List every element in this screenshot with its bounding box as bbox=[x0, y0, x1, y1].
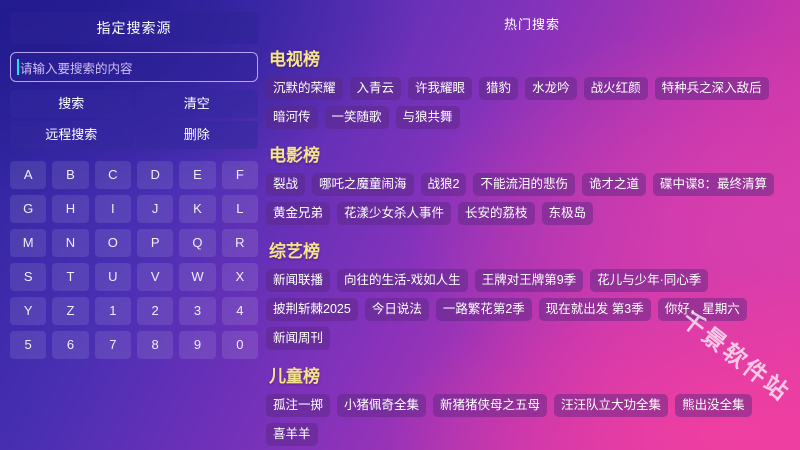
hot-search-tag[interactable]: 一笑随歌 bbox=[325, 106, 389, 129]
key-w[interactable]: W bbox=[179, 263, 215, 291]
section-heading: 综艺榜 bbox=[269, 237, 798, 262]
hot-search-tag[interactable]: 战狼2 bbox=[421, 173, 467, 196]
hot-search-tag[interactable]: 沉默的荣耀 bbox=[266, 77, 343, 100]
ranking-sections: 电视榜沉默的荣耀入青云许我耀眼猎豹水龙吟战火红颜特种兵之深入敌后暗河传一笑随歌与… bbox=[264, 45, 800, 446]
search-button[interactable]: 搜索 bbox=[10, 90, 133, 118]
key-c[interactable]: C bbox=[95, 161, 131, 189]
key-t[interactable]: T bbox=[52, 263, 88, 291]
key-q[interactable]: Q bbox=[179, 229, 215, 257]
tag-row: 孤注一掷小猪佩奇全集新猪猪侠母之五母汪汪队立大功全集熊出没全集喜羊羊 bbox=[266, 394, 798, 446]
hot-search-title: 热门搜索 bbox=[264, 0, 800, 33]
text-caret bbox=[17, 59, 19, 75]
hot-search-tag[interactable]: 长安的荔枝 bbox=[458, 202, 535, 225]
tag-row: 新闻联播向往的生活-戏如人生王牌对王牌第9季花儿与少年·同心季披荆斩棘2025今… bbox=[266, 269, 798, 350]
key-u[interactable]: U bbox=[95, 263, 131, 291]
key-6[interactable]: 6 bbox=[52, 331, 88, 359]
hot-search-tag[interactable]: 东极岛 bbox=[542, 202, 594, 225]
panel-title: 指定搜索源 bbox=[10, 12, 258, 44]
app-root: 指定搜索源 请输入要搜索的内容 搜索 清空 远程搜索 删除 ABCDEFGHIJ… bbox=[0, 0, 800, 450]
key-l[interactable]: L bbox=[222, 195, 258, 223]
hot-search-tag[interactable]: 裂战 bbox=[266, 173, 305, 196]
key-y[interactable]: Y bbox=[10, 297, 46, 325]
search-input[interactable]: 请输入要搜索的内容 bbox=[10, 52, 258, 82]
hot-search-tag[interactable]: 一路繁花第2季 bbox=[436, 298, 532, 321]
key-1[interactable]: 1 bbox=[95, 297, 131, 325]
key-0[interactable]: 0 bbox=[222, 331, 258, 359]
key-a[interactable]: A bbox=[10, 161, 46, 189]
remote-search-button[interactable]: 远程搜索 bbox=[10, 121, 133, 149]
search-input-placeholder: 请输入要搜索的内容 bbox=[20, 58, 133, 77]
key-7[interactable]: 7 bbox=[95, 331, 131, 359]
key-j[interactable]: J bbox=[137, 195, 173, 223]
hot-search-tag[interactable]: 新猪猪侠母之五母 bbox=[433, 394, 547, 417]
hot-search-tag[interactable]: 今日说法 bbox=[365, 298, 429, 321]
ranking-section: 电影榜裂战哪吒之魔童闹海战狼2不能流泪的悲伤诡才之道碟中谍8：最终清算黄金兄弟花… bbox=[264, 141, 800, 225]
virtual-keyboard: ABCDEFGHIJKLMNOPQRSTUVWXYZ1234567890 bbox=[10, 161, 258, 359]
hot-search-tag[interactable]: 入青云 bbox=[350, 77, 402, 100]
hot-search-tag[interactable]: 水龙吟 bbox=[525, 77, 577, 100]
hot-search-panel: 热门搜索 电视榜沉默的荣耀入青云许我耀眼猎豹水龙吟战火红颜特种兵之深入敌后暗河传… bbox=[264, 0, 800, 450]
key-n[interactable]: N bbox=[52, 229, 88, 257]
clear-button[interactable]: 清空 bbox=[136, 90, 259, 118]
hot-search-tag[interactable]: 新闻周刊 bbox=[266, 327, 330, 350]
ranking-section: 电视榜沉默的荣耀入青云许我耀眼猎豹水龙吟战火红颜特种兵之深入敌后暗河传一笑随歌与… bbox=[264, 45, 800, 129]
tag-row: 裂战哪吒之魔童闹海战狼2不能流泪的悲伤诡才之道碟中谍8：最终清算黄金兄弟花漾少女… bbox=[266, 173, 798, 225]
hot-search-tag[interactable]: 碟中谍8：最终清算 bbox=[653, 173, 774, 196]
hot-search-tag[interactable]: 暗河传 bbox=[266, 106, 318, 129]
hot-search-tag[interactable]: 不能流泪的悲伤 bbox=[473, 173, 575, 196]
section-heading: 电视榜 bbox=[269, 45, 798, 70]
ranking-section: 综艺榜新闻联播向往的生活-戏如人生王牌对王牌第9季花儿与少年·同心季披荆斩棘20… bbox=[264, 237, 800, 350]
hot-search-tag[interactable]: 新闻联播 bbox=[266, 269, 330, 292]
hot-search-tag[interactable]: 孤注一掷 bbox=[266, 394, 330, 417]
hot-search-tag[interactable]: 汪汪队立大功全集 bbox=[554, 394, 668, 417]
key-2[interactable]: 2 bbox=[137, 297, 173, 325]
hot-search-tag[interactable]: 哪吒之魔童闹海 bbox=[312, 173, 414, 196]
key-d[interactable]: D bbox=[137, 161, 173, 189]
hot-search-tag[interactable]: 猎豹 bbox=[479, 77, 518, 100]
hot-search-tag[interactable]: 花儿与少年·同心季 bbox=[590, 269, 708, 292]
key-e[interactable]: E bbox=[179, 161, 215, 189]
hot-search-tag[interactable]: 现在就出发 第3季 bbox=[539, 298, 651, 321]
key-o[interactable]: O bbox=[95, 229, 131, 257]
key-8[interactable]: 8 bbox=[137, 331, 173, 359]
key-9[interactable]: 9 bbox=[179, 331, 215, 359]
hot-search-tag[interactable]: 喜羊羊 bbox=[266, 423, 318, 446]
section-heading: 儿童榜 bbox=[269, 362, 798, 387]
key-b[interactable]: B bbox=[52, 161, 88, 189]
hot-search-tag[interactable]: 花漾少女杀人事件 bbox=[337, 202, 451, 225]
hot-search-tag[interactable]: 王牌对王牌第9季 bbox=[475, 269, 583, 292]
hot-search-tag[interactable]: 战火红颜 bbox=[584, 77, 648, 100]
action-button-grid: 搜索 清空 远程搜索 删除 bbox=[10, 90, 258, 149]
key-k[interactable]: K bbox=[179, 195, 215, 223]
hot-search-tag[interactable]: 小猪佩奇全集 bbox=[337, 394, 426, 417]
key-z[interactable]: Z bbox=[52, 297, 88, 325]
key-5[interactable]: 5 bbox=[10, 331, 46, 359]
tag-row: 沉默的荣耀入青云许我耀眼猎豹水龙吟战火红颜特种兵之深入敌后暗河传一笑随歌与狼共舞 bbox=[266, 77, 798, 129]
hot-search-tag[interactable]: 披荆斩棘2025 bbox=[266, 298, 358, 321]
key-s[interactable]: S bbox=[10, 263, 46, 291]
hot-search-tag[interactable]: 与狼共舞 bbox=[396, 106, 460, 129]
key-4[interactable]: 4 bbox=[222, 297, 258, 325]
delete-button[interactable]: 删除 bbox=[136, 121, 259, 149]
section-heading: 电影榜 bbox=[269, 141, 798, 166]
key-g[interactable]: G bbox=[10, 195, 46, 223]
hot-search-tag[interactable]: 黄金兄弟 bbox=[266, 202, 330, 225]
hot-search-tag[interactable]: 许我耀眼 bbox=[408, 77, 472, 100]
key-f[interactable]: F bbox=[222, 161, 258, 189]
search-panel: 指定搜索源 请输入要搜索的内容 搜索 清空 远程搜索 删除 ABCDEFGHIJ… bbox=[10, 12, 258, 436]
ranking-section: 儿童榜孤注一掷小猪佩奇全集新猪猪侠母之五母汪汪队立大功全集熊出没全集喜羊羊 bbox=[264, 362, 800, 446]
key-p[interactable]: P bbox=[137, 229, 173, 257]
key-h[interactable]: H bbox=[52, 195, 88, 223]
key-x[interactable]: X bbox=[222, 263, 258, 291]
key-v[interactable]: V bbox=[137, 263, 173, 291]
key-r[interactable]: R bbox=[222, 229, 258, 257]
key-3[interactable]: 3 bbox=[179, 297, 215, 325]
hot-search-tag[interactable]: 熊出没全集 bbox=[675, 394, 752, 417]
key-i[interactable]: I bbox=[95, 195, 131, 223]
hot-search-tag[interactable]: 特种兵之深入敌后 bbox=[655, 77, 769, 100]
hot-search-tag[interactable]: 向往的生活-戏如人生 bbox=[337, 269, 468, 292]
key-m[interactable]: M bbox=[10, 229, 46, 257]
hot-search-tag[interactable]: 你好，星期六 bbox=[658, 298, 747, 321]
hot-search-tag[interactable]: 诡才之道 bbox=[582, 173, 646, 196]
